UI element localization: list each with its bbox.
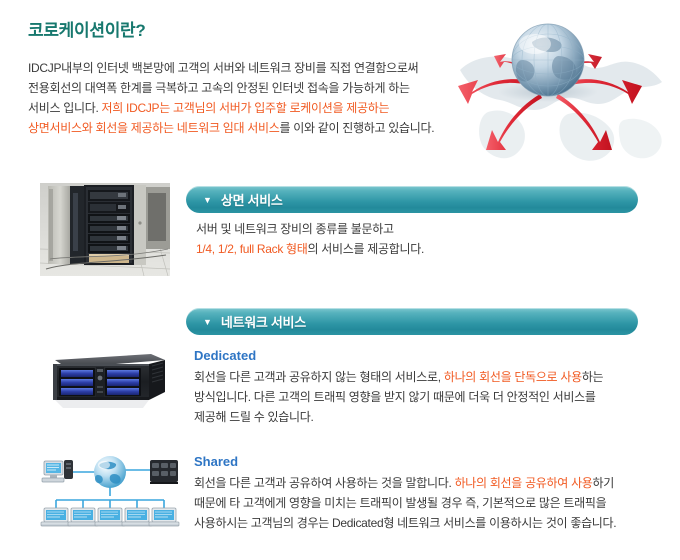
highlighted-text: 하나의 회선을 공유하여 사용 (455, 476, 593, 490)
server-icon (150, 460, 178, 484)
body-text: IDCJP내부의 인터넷 백본망에 고객의 서버와 네트워크 장비를 직접 연결… (28, 61, 418, 75)
desktop-computer-icon (42, 460, 73, 482)
text-line: 회선을 다른 고객과 공유하여 사용하는 것을 말합니다. 하나의 회선을 공유… (194, 473, 616, 493)
body-text: 하는 (582, 370, 603, 384)
section-header-colocation[interactable]: ▼ 상면 서비스 (186, 186, 638, 213)
body-text: 를 이와 같이 진행하고 있습니다. (279, 121, 434, 135)
body-text: 회선을 다른 고객과 공유하여 사용하는 것을 말합니다. (194, 476, 455, 490)
text-line: 전용회선의 대역폭 한계를 극복하고 고속의 안정된 인터넷 접속을 가능하게 … (28, 78, 448, 98)
intro-paragraph: IDCJP내부의 인터넷 백본망에 고객의 서버와 네트워크 장비를 직접 연결… (28, 58, 448, 138)
body-text: 서비스 입니다. (28, 101, 102, 115)
body-text: 때문에 타 고객에게 영향을 미치는 트래픽이 발생될 경우 즉, 기본적으로 … (194, 496, 606, 510)
body-text: 하기 (593, 476, 614, 490)
section-header-network[interactable]: ▼ 네트워크 서비스 (186, 308, 638, 335)
body-text: 전용회선의 대역폭 한계를 극복하고 고속의 안정된 인터넷 접속을 가능하게 … (28, 81, 410, 95)
dedicated-description: Dedicated회선을 다른 고객과 공유하지 않는 형태의 서비스로, 하나… (194, 346, 603, 427)
colocation-description: 서버 및 네트워크 장비의 종류를 불문하고1/4, 1/2, full Rac… (196, 219, 424, 259)
server-rack-photo (40, 183, 170, 276)
text-line: 제공해 드릴 수 있습니다. (194, 407, 603, 427)
body-text: 의 서비스를 제공합니다. (308, 242, 425, 256)
highlighted-text: 상면서비스와 회선을 제공하는 네트워크 임대 서비스 (28, 121, 279, 135)
text-line: 방식입니다. 다른 고객의 트래픽 영향을 받지 않기 때문에 더욱 더 안정적… (194, 387, 603, 407)
subsection-heading: Dedicated (194, 346, 603, 366)
text-line: 1/4, 1/2, full Rack 형태의 서비스를 제공합니다. (196, 239, 424, 259)
globe-world-arrows-graphic (448, 8, 676, 176)
highlighted-text: 저희 IDCJP는 고객님의 서버가 입주할 로케이션을 제공하는 (102, 101, 390, 115)
text-line: 사용하시는 고객님의 경우는 Dedicated형 네트워크 서비스를 이용하시… (194, 513, 616, 533)
section-header-label: 상면 서비스 (221, 190, 283, 209)
network-topology-diagram (38, 448, 183, 530)
page-title: 코로케이션이란? (28, 16, 145, 41)
text-line: 서비스 입니다. 저희 IDCJP는 고객님의 서버가 입주할 로케이션을 제공… (28, 98, 448, 118)
globe-icon (94, 456, 126, 488)
body-text: 제공해 드릴 수 있습니다. (194, 410, 314, 424)
body-text: 방식입니다. 다른 고객의 트래픽 영향을 받지 않기 때문에 더욱 더 안정적… (194, 390, 596, 404)
globe-sphere (512, 24, 584, 96)
highlighted-text: 하나의 회선을 단독으로 사용 (444, 370, 582, 384)
body-text: 사용하시는 고객님의 경우는 Dedicated형 네트워크 서비스를 이용하시… (194, 516, 616, 530)
text-line: 서버 및 네트워크 장비의 종류를 불문하고 (196, 219, 424, 239)
highlighted-text: 1/4, 1/2, full Rack 형태 (196, 242, 308, 256)
body-text: 서버 및 네트워크 장비의 종류를 불문하고 (196, 222, 394, 236)
text-line: IDCJP내부의 인터넷 백본망에 고객의 서버와 네트워크 장비를 직접 연결… (28, 58, 448, 78)
chevron-down-icon: ▼ (203, 196, 212, 205)
chevron-down-icon: ▼ (203, 318, 212, 327)
section-header-label: 네트워크 서비스 (221, 312, 306, 331)
shared-description: Shared회선을 다른 고객과 공유하여 사용하는 것을 말합니다. 하나의 … (194, 452, 616, 533)
text-line: 회선을 다른 고객과 공유하지 않는 형태의 서비스로, 하나의 회선을 단독으… (194, 367, 603, 387)
text-line: 상면서비스와 회선을 제공하는 네트워크 임대 서비스를 이와 같이 진행하고 … (28, 118, 448, 138)
text-line: 때문에 타 고객에게 영향을 미치는 트래픽이 발생될 경우 즉, 기본적으로 … (194, 493, 616, 513)
body-text: 회선을 다른 고객과 공유하지 않는 형태의 서비스로, (194, 370, 444, 384)
subsection-heading: Shared (194, 452, 616, 472)
rackmount-server-photo (45, 348, 170, 413)
laptop-row (41, 508, 179, 526)
colocation-info-page: 코로케이션이란? IDCJP내부의 인터넷 백본망에 고객의 서버와 네트워크 … (0, 0, 680, 560)
